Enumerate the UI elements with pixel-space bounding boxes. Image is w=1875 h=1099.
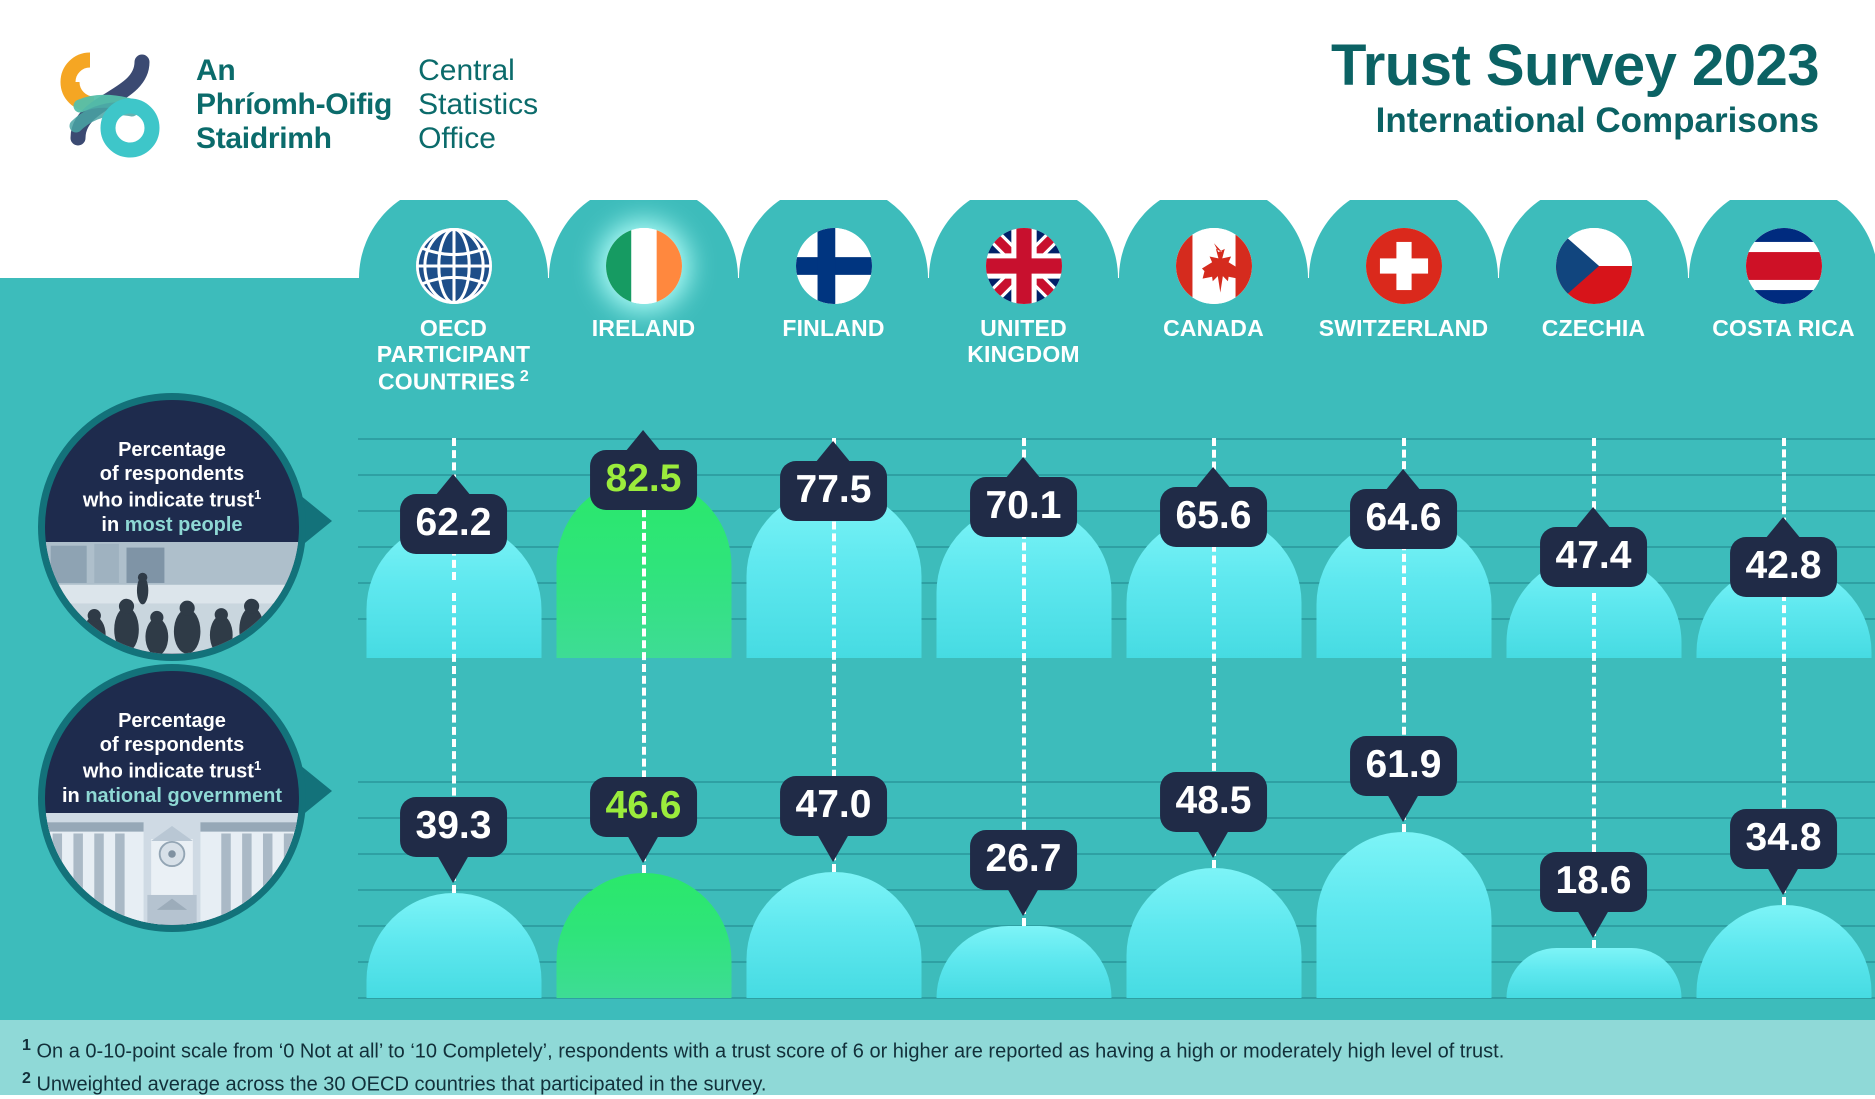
value-label: 65.6	[1176, 494, 1252, 537]
country-label: FINLAND	[746, 316, 921, 342]
bar-dome	[556, 873, 731, 998]
value-label: 39.3	[416, 804, 492, 847]
value-bubble[interactable]: 47.0	[780, 776, 888, 836]
bubble-tip	[1576, 507, 1612, 529]
bar-column[interactable]: 61.9	[1316, 723, 1491, 998]
country-label: COSTA RICA	[1696, 316, 1871, 342]
flag-ireland	[606, 228, 682, 304]
value-label: 47.0	[796, 783, 872, 826]
country-label: IRELAND	[556, 316, 731, 342]
country-header-switzerland[interactable]: SWITZERLAND	[1316, 196, 1491, 342]
page-subtitle: International Comparisons	[1331, 101, 1819, 140]
legend1-line3: who indicate trust1	[59, 487, 285, 513]
value-bubble[interactable]: 39.3	[400, 797, 508, 857]
legend2-accent: national government	[85, 785, 282, 807]
page-header: An Phríomh-Oifig Staidrimh Central Stati…	[0, 0, 1875, 200]
footnote-2-text: Unweighted average across the 30 OECD co…	[36, 1073, 766, 1095]
legend1-line2: of respondents	[59, 462, 285, 486]
globe-icon	[416, 228, 492, 304]
bar-column[interactable]: 26.7	[936, 723, 1111, 998]
country-label-line: SWITZERLAND	[1316, 316, 1491, 342]
cso-infinity-logo-icon	[50, 40, 170, 160]
flag-switzerland	[1366, 228, 1442, 304]
country-label-line: IRELAND	[556, 316, 731, 342]
bubble-tip	[1196, 467, 1232, 489]
flag-finland	[796, 228, 872, 304]
country-label: CZECHIA	[1506, 316, 1681, 342]
bar-dome	[936, 926, 1111, 998]
bubble-tip	[626, 430, 662, 452]
country-header-finland[interactable]: FINLAND	[746, 196, 921, 342]
legend2-line2: of respondents	[59, 733, 285, 757]
bubble-tip	[438, 855, 470, 883]
legend-circle-national-government: Percentage of respondents who indicate t…	[38, 664, 306, 932]
value-label: 18.6	[1556, 859, 1632, 902]
country-header-czechia[interactable]: CZECHIA	[1506, 196, 1681, 342]
footnote-2: 2 Unweighted average across the 30 OECD …	[22, 1067, 1853, 1099]
bar-dome	[1316, 832, 1491, 998]
bar-dome	[366, 893, 541, 998]
country-label: CANADA	[1126, 316, 1301, 342]
logo-irish-line-3: Staidrimh	[196, 122, 392, 156]
bar-dome	[746, 872, 921, 998]
bubble-tip	[1388, 794, 1420, 822]
page-title: Trust Survey 2023	[1331, 36, 1819, 97]
logo-text-english: Central Statistics Office	[418, 40, 538, 156]
legend1-line4: in most people	[59, 513, 285, 537]
cso-logo-block: An Phríomh-Oifig Staidrimh Central Stati…	[50, 40, 538, 160]
value-bubble[interactable]: 82.5	[590, 450, 698, 510]
legend2-line3: who indicate trust1	[59, 758, 285, 784]
value-label: 64.6	[1366, 496, 1442, 539]
country-header-united-kingdom[interactable]: UNITEDKINGDOM	[936, 196, 1111, 368]
country-label-line: COSTA RICA	[1696, 316, 1871, 342]
country-header-oecd-participant-countries[interactable]: OECDPARTICIPANTCOUNTRIES 2	[366, 196, 541, 395]
legend-text-most-people: Percentage of respondents who indicate t…	[45, 400, 299, 537]
legend1-line1: Percentage	[59, 438, 285, 462]
bar-column[interactable]: 39.3	[366, 723, 541, 998]
value-label: 48.5	[1176, 779, 1252, 822]
bubble-tip	[1008, 888, 1040, 916]
value-label: 42.8	[1746, 544, 1822, 587]
legend-circle-most-people: Percentage of respondents who indicate t…	[38, 393, 306, 661]
bar-dome	[1506, 948, 1681, 998]
country-label-line: CANADA	[1126, 316, 1301, 342]
chart-row-national-government: 39.346.647.026.748.561.918.634.8	[358, 723, 1875, 998]
value-bubble[interactable]: 64.6	[1350, 489, 1458, 549]
footnote-2-marker: 2	[22, 1070, 31, 1087]
legend1-footnote-marker: 1	[254, 487, 261, 502]
country-header-strip: OECDPARTICIPANTCOUNTRIES 2IRELANDFINLAND…	[358, 196, 1875, 396]
bubble-tip	[1386, 469, 1422, 491]
footnote-1-marker: 1	[22, 1037, 31, 1054]
value-label: 77.5	[796, 468, 872, 511]
logo-english-line-2: Statistics	[418, 88, 538, 122]
footnote-1: 1 On a 0-10-point scale from ‘0 Not at a…	[22, 1034, 1853, 1067]
value-bubble[interactable]: 18.6	[1540, 852, 1648, 912]
bar-column[interactable]: 34.8	[1696, 723, 1871, 998]
value-bubble[interactable]: 47.4	[1540, 527, 1648, 587]
value-bubble[interactable]: 42.8	[1730, 537, 1838, 597]
bubble-tip	[436, 474, 472, 496]
bubble-tip	[1006, 457, 1042, 479]
country-label-line: FINLAND	[746, 316, 921, 342]
value-label: 47.4	[1556, 534, 1632, 577]
logo-english-line-3: Office	[418, 122, 538, 156]
value-label: 62.2	[416, 501, 492, 544]
value-bubble[interactable]: 70.1	[970, 477, 1078, 537]
flag-canada	[1176, 228, 1252, 304]
logo-english-line-1: Central	[418, 54, 538, 88]
bar-dome	[1126, 868, 1301, 998]
crowd-of-people-photo	[45, 542, 299, 654]
value-bubble[interactable]: 34.8	[1730, 809, 1838, 869]
logo-irish-line-1: An	[196, 54, 392, 88]
country-label-line: COUNTRIES 2	[366, 368, 541, 395]
value-bubble[interactable]: 48.5	[1160, 772, 1268, 832]
value-label: 34.8	[1746, 816, 1822, 859]
legend2-line1: Percentage	[59, 709, 285, 733]
value-label: 61.9	[1366, 743, 1442, 786]
footnotes: 1 On a 0-10-point scale from ‘0 Not at a…	[0, 1020, 1875, 1095]
bubble-tip	[818, 834, 850, 862]
bubble-tip	[628, 835, 660, 863]
country-label-line: KINGDOM	[936, 342, 1111, 368]
bar-column[interactable]: 18.6	[1506, 723, 1681, 998]
flag-czechia	[1556, 228, 1632, 304]
bubble-tip	[816, 441, 852, 463]
value-label: 82.5	[606, 457, 682, 500]
legend2-line4: in national government	[59, 784, 285, 808]
legend-text-national-government: Percentage of respondents who indicate t…	[45, 671, 299, 808]
bubble-tip	[1578, 910, 1610, 938]
value-bubble[interactable]: 65.6	[1160, 487, 1268, 547]
country-label: OECDPARTICIPANTCOUNTRIES 2	[366, 316, 541, 395]
country-footnote-marker: 2	[515, 368, 529, 385]
bubble-tip	[1768, 867, 1800, 895]
bar-dome	[1696, 905, 1871, 998]
country-label-line: PARTICIPANT	[366, 342, 541, 368]
legend1-accent: most people	[125, 514, 243, 536]
legend2-footnote-marker: 1	[254, 758, 261, 773]
title-block: Trust Survey 2023 International Comparis…	[1331, 36, 1819, 140]
bubble-tip	[1766, 517, 1802, 539]
value-label: 26.7	[986, 837, 1062, 880]
country-label-line: UNITED	[936, 316, 1111, 342]
value-label: 70.1	[986, 484, 1062, 527]
logo-text-irish: An Phríomh-Oifig Staidrimh	[196, 40, 392, 156]
value-label: 46.6	[606, 784, 682, 827]
flag-united-kingdom	[986, 228, 1062, 304]
value-bubble[interactable]: 26.7	[970, 830, 1078, 890]
country-header-canada[interactable]: CANADA	[1126, 196, 1301, 342]
value-bubble[interactable]: 62.2	[400, 494, 508, 554]
footnote-1-text: On a 0-10-point scale from ‘0 Not at all…	[36, 1041, 1504, 1063]
country-label-line: CZECHIA	[1506, 316, 1681, 342]
bar-column[interactable]: 46.6	[556, 723, 731, 998]
chart-row-most-people: 62.282.577.570.165.664.647.442.8	[358, 438, 1875, 658]
bar-column[interactable]: 47.0	[746, 723, 921, 998]
country-header-ireland[interactable]: IRELAND	[556, 196, 731, 342]
bar-column[interactable]: 48.5	[1126, 723, 1301, 998]
country-header-costa-rica[interactable]: COSTA RICA	[1696, 196, 1871, 342]
country-label-line: OECD	[366, 316, 541, 342]
value-bubble[interactable]: 77.5	[780, 461, 888, 521]
country-label: SWITZERLAND	[1316, 316, 1491, 342]
logo-irish-line-2: Phríomh-Oifig	[196, 88, 392, 122]
value-bubble[interactable]: 46.6	[590, 777, 698, 837]
flag-costa-rica	[1746, 228, 1822, 304]
bubble-tip	[1198, 830, 1230, 858]
country-label: UNITEDKINGDOM	[936, 316, 1111, 368]
value-bubble[interactable]: 61.9	[1350, 736, 1458, 796]
government-building-photo	[45, 813, 299, 925]
